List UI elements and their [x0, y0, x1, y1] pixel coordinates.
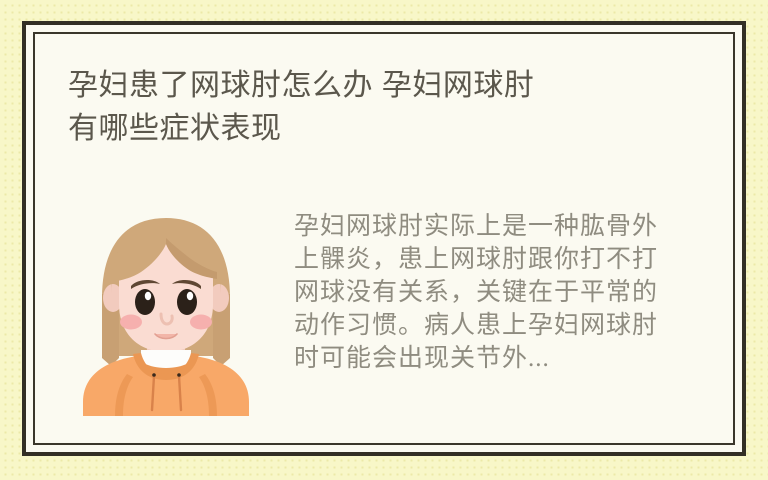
excerpt-line-5: 时可能会出现关节外...: [294, 342, 756, 375]
article-card-page: { "page": { "background_color": "#f8f7c8…: [0, 0, 768, 480]
excerpt-line-1: 孕妇网球肘实际上是一种肱骨外: [294, 210, 756, 243]
article-body: 孕妇网球肘实际上是一种肱骨外 上髁炎，患上网球肘跟你打不打 网球没有关系，关键在…: [68, 202, 715, 434]
article-excerpt: 孕妇网球肘实际上是一种肱骨外 上髁炎，患上网球肘跟你打不打 网球没有关系，关键在…: [294, 210, 756, 375]
article-card-inner-border: 孕妇患了网球肘怎么办 孕妇网球肘 有哪些症状表现: [33, 32, 735, 445]
excerpt-line-2: 上髁炎，患上网球肘跟你打不打: [294, 243, 756, 276]
excerpt-line-3: 网球没有关系，关键在于平常的: [294, 276, 756, 309]
excerpt-line-4: 动作习惯。病人患上孕妇网球肘: [294, 309, 756, 342]
article-card-frame: 孕妇患了网球肘怎么办 孕妇网球肘 有哪些症状表现: [22, 21, 746, 456]
page-title-line-1: 孕妇患了网球肘怎么办 孕妇网球肘: [68, 64, 708, 107]
page-title-line-2: 有哪些症状表现: [68, 107, 708, 150]
avatar: [75, 206, 257, 416]
page-title: 孕妇患了网球肘怎么办 孕妇网球肘 有哪些症状表现: [68, 64, 708, 150]
